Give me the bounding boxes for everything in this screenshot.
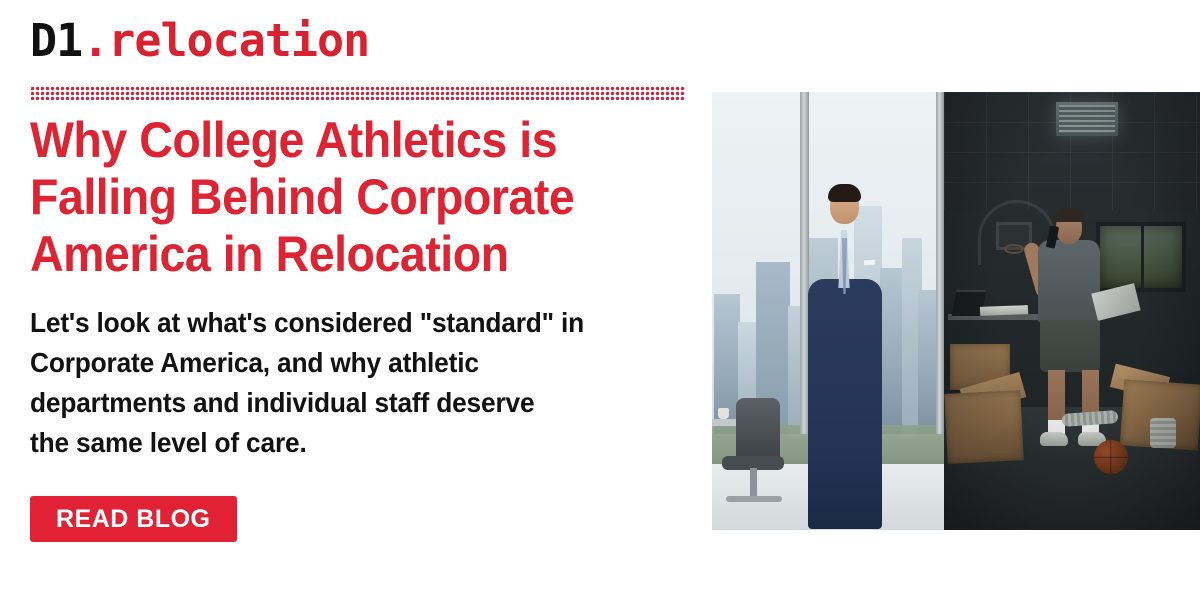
subtitle-line-4: the same level of care. [30,427,307,458]
headline-line-2: Falling Behind Corporate [30,169,574,225]
hero-image [712,92,1200,530]
executive-hair [828,184,861,202]
subtitle-line-1: Let's look at what's considered "standar… [30,307,584,338]
basketball-rim [1004,244,1024,254]
read-blog-button[interactable]: READ BLOG [30,496,237,542]
headline-line-1: Why College Athletics is [30,112,557,168]
executive-suit [808,279,882,529]
hero-image-corporate-half [712,92,944,530]
content-column: D1.relocation Why College Athletics isFa… [30,0,690,600]
moving-box [944,390,1024,464]
logo-word-text: .relocation [82,14,369,67]
window-mullion [936,92,944,434]
office-window [1096,222,1186,292]
logo-mark-text: D1 [30,14,82,67]
basketball [1094,440,1128,474]
staffer-shorts [1040,320,1100,372]
pocket-square [864,260,875,266]
skyline-building [880,268,904,434]
chair-base [726,496,782,502]
brand-logo[interactable]: D1.relocation [30,18,369,63]
chair-backrest [736,398,780,464]
office-chair [714,398,788,518]
promo-banner: D1.relocation Why College Athletics isFa… [0,0,1200,600]
staffer-hair [1054,208,1084,222]
headline-line-3: America in Relocation [30,226,509,282]
subtitle-line-3: departments and individual staff deserve [30,387,534,418]
staffer-polo-shirt [1038,240,1100,322]
page-title: Why College Athletics isFalling Behind C… [30,112,644,283]
subtitle-line-2: Corporate America, and why athletic [30,347,479,378]
paper-stack [980,305,1028,316]
ceiling-light-panel [1056,102,1118,136]
staffer-sneaker [1040,432,1068,446]
dotted-divider [30,86,686,100]
page-subtitle: Let's look at what's considered "standar… [30,303,669,463]
hero-image-athletics-half [944,92,1200,530]
bubble-wrap-roll [1150,418,1176,448]
